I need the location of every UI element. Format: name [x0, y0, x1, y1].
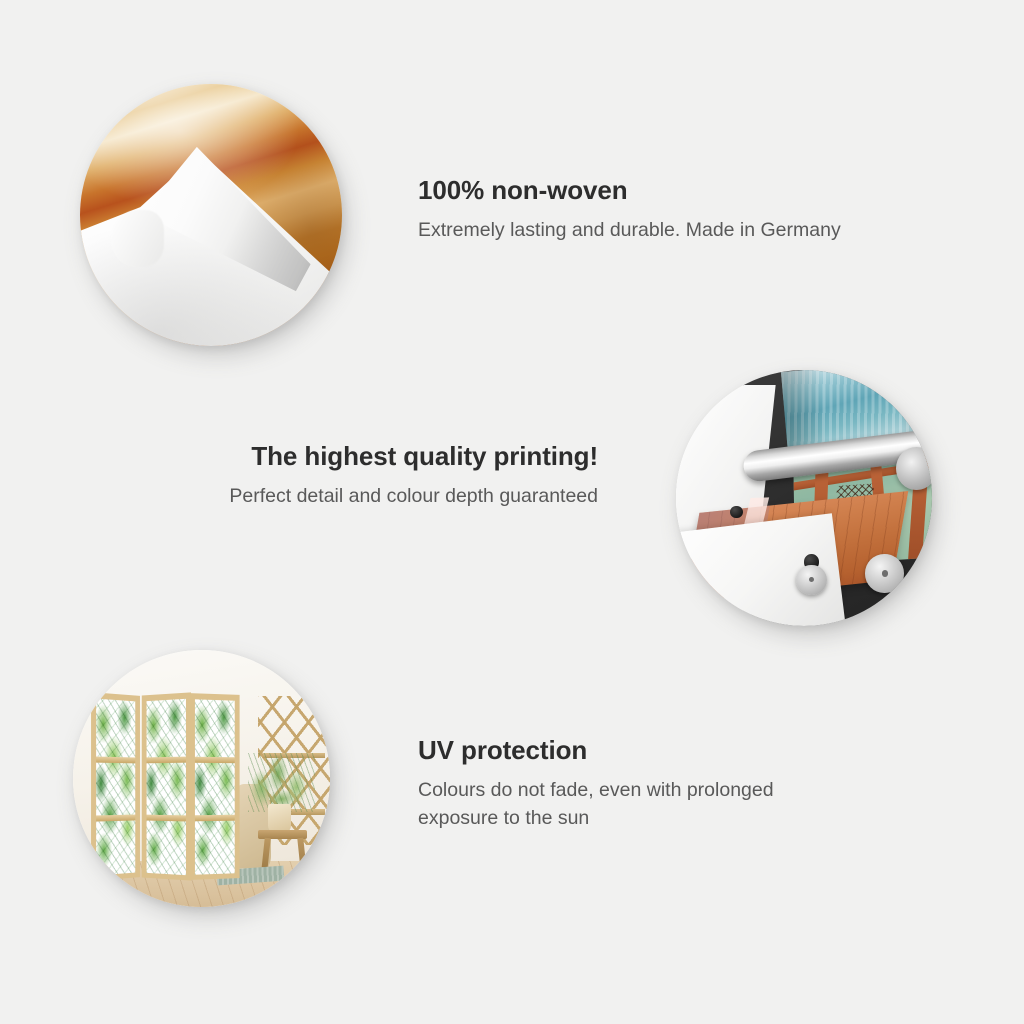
divider-panel [141, 692, 190, 880]
infographic-stage: 100% non-woven Extremely lasting and dur… [0, 0, 1024, 1024]
feature-title: The highest quality printing! [178, 441, 598, 472]
feature-text-printing: The highest quality printing! Perfect de… [178, 441, 598, 511]
panel-mullion [96, 814, 135, 821]
roller-end-cap [896, 447, 932, 491]
plant-pot [268, 804, 291, 832]
feature-image-non-woven [80, 84, 342, 346]
panel-mullion [195, 757, 234, 763]
feature-image-printing [676, 370, 932, 626]
panel-mullion [146, 814, 185, 821]
printer-wheel [865, 554, 903, 592]
potted-palm-foliage [248, 753, 315, 812]
feature-description: Colours do not fade, even with prolonged… [418, 777, 818, 832]
panel-mullion [146, 757, 185, 764]
feature-title: UV protection [418, 735, 818, 766]
room-divider-illustration [73, 650, 330, 907]
tropical-leaf-print [96, 698, 135, 875]
curl-tip [111, 210, 163, 268]
feature-title: 100% non-woven [418, 175, 858, 206]
printer-knob [730, 506, 743, 519]
printer-wheel [796, 565, 827, 596]
divider-panel [190, 693, 239, 880]
tropical-leaf-print [195, 699, 234, 874]
feature-text-non-woven: 100% non-woven Extremely lasting and dur… [418, 175, 858, 245]
feature-text-uv-protection: UV protection Colours do not fade, even … [418, 735, 818, 833]
panel-mullion [96, 757, 135, 764]
feature-image-uv-protection [73, 650, 330, 907]
printing-press-illustration [676, 370, 932, 626]
tropical-leaf-print [146, 699, 185, 875]
feature-description: Extremely lasting and durable. Made in G… [418, 217, 858, 245]
panel-mullion [195, 814, 234, 821]
feature-description: Perfect detail and colour depth guarante… [178, 483, 598, 511]
folding-room-divider [91, 694, 240, 879]
peeling-wallpaper-illustration [80, 84, 342, 346]
divider-panel [91, 692, 140, 881]
